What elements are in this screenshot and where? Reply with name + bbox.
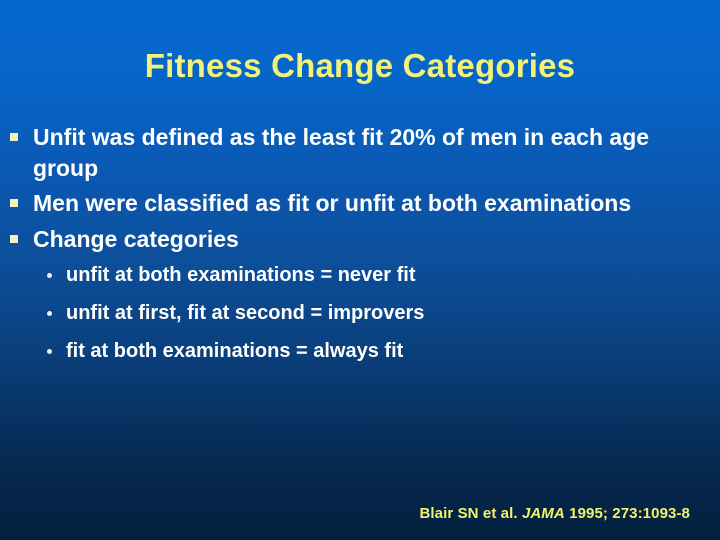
bullet-item: Change categories: [0, 224, 720, 255]
round-bullet-icon: [47, 311, 52, 316]
sub-bullet-text: fit at both examinations = always fit: [66, 340, 403, 362]
sub-bullet-text: unfit at both examinations = never fit: [66, 264, 416, 286]
sub-bullet-text: unfit at first, fit at second = improver…: [66, 302, 424, 324]
square-bullet-icon: [10, 133, 18, 141]
bullet-text: Unfit was defined as the least fit 20% o…: [33, 124, 649, 181]
round-bullet-icon: [47, 273, 52, 278]
presentation-slide: Fitness Change Categories Unfit was defi…: [0, 0, 720, 540]
source-citation: Blair SN et al. JAMA 1995; 273:1093-8: [419, 505, 690, 522]
slide-title: Fitness Change Categories: [0, 46, 720, 86]
slide-body-content: Unfit was defined as the least fit 20% o…: [0, 122, 720, 375]
bullet-text: Change categories: [33, 226, 239, 252]
citation-journal: JAMA: [522, 505, 565, 522]
bullet-item: Men were classified as fit or unfit at b…: [0, 188, 720, 219]
sub-bullet-list: unfit at both examinations = never fit u…: [0, 261, 720, 366]
bullet-item: Unfit was defined as the least fit 20% o…: [0, 122, 720, 183]
sub-bullet-item: unfit at first, fit at second = improver…: [0, 299, 720, 328]
sub-bullet-item: unfit at both examinations = never fit: [0, 261, 720, 290]
citation-authors: Blair SN et al.: [419, 505, 517, 522]
square-bullet-icon: [10, 235, 18, 243]
round-bullet-icon: [47, 349, 52, 354]
bullet-text: Men were classified as fit or unfit at b…: [33, 190, 631, 216]
sub-bullet-item: fit at both examinations = always fit: [0, 337, 720, 366]
square-bullet-icon: [10, 199, 18, 207]
citation-reference: 1995; 273:1093-8: [569, 505, 690, 522]
